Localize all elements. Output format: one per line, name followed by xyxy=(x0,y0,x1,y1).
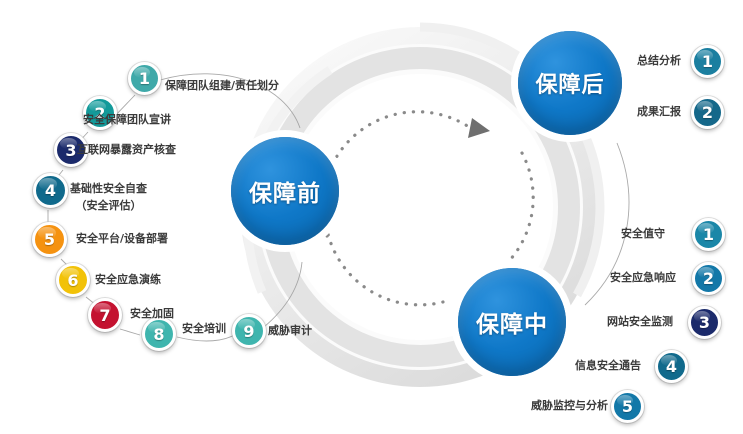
before-badge-6[interactable]: 6 xyxy=(56,263,90,297)
dotted-arc-top xyxy=(322,112,469,236)
before-label-4-line1: 基础性安全自查 xyxy=(70,180,147,197)
before-label-4-line2: （安全评估） xyxy=(70,197,147,214)
before-badge-1-num: 1 xyxy=(139,69,150,88)
dotted-arc-bottom xyxy=(325,215,443,305)
before-label-4: 基础性安全自查 （安全评估） xyxy=(70,180,147,214)
before-badge-9-num: 9 xyxy=(243,322,254,341)
during-badge-3[interactable]: 3 xyxy=(688,306,721,339)
hub-during[interactable]: 保障中 xyxy=(451,261,573,383)
dotted-arc-right xyxy=(489,153,533,278)
after-label-1: 总结分析 xyxy=(637,54,681,68)
during-label-3: 网站安全监测 xyxy=(607,315,673,329)
during-badge-3-num: 3 xyxy=(699,313,710,332)
before-badge-5[interactable]: 5 xyxy=(32,222,67,257)
before-badge-7-num: 7 xyxy=(99,306,110,325)
before-label-8: 安全培训 xyxy=(182,322,226,336)
before-badge-7[interactable]: 7 xyxy=(88,298,122,332)
hub-before[interactable]: 保障前 xyxy=(224,130,346,252)
hub-after-label: 保障后 xyxy=(535,67,604,99)
during-badge-1-num: 1 xyxy=(703,225,714,244)
before-label-9: 威胁审计 xyxy=(268,324,312,338)
during-label-2: 安全应急响应 xyxy=(610,271,676,285)
during-badge-5-num: 5 xyxy=(622,397,633,416)
during-badge-1[interactable]: 1 xyxy=(692,218,725,251)
arrowhead-to-after xyxy=(468,118,490,138)
during-badge-4-num: 4 xyxy=(666,357,677,376)
during-badge-5[interactable]: 5 xyxy=(611,390,644,423)
after-badge-1-num: 1 xyxy=(702,52,713,71)
before-label-2: 安全保障团队宣讲 xyxy=(83,113,171,127)
before-label-5: 安全平台/设备部署 xyxy=(76,232,168,246)
hub-before-label: 保障前 xyxy=(249,174,321,208)
diagram-canvas: 保障前 保障后 保障中 1 2 3 4 5 6 7 8 9 保障团队组建/责任划… xyxy=(0,0,743,434)
before-label-7: 安全加固 xyxy=(130,307,174,321)
hub-during-label: 保障中 xyxy=(476,305,548,339)
before-badge-3-num: 3 xyxy=(65,141,76,160)
during-label-1: 安全值守 xyxy=(621,227,665,241)
after-label-2: 成果汇报 xyxy=(637,105,681,119)
after-badge-2-num: 2 xyxy=(702,103,713,122)
before-badge-1[interactable]: 1 xyxy=(128,62,161,95)
before-badge-5-num: 5 xyxy=(44,230,55,249)
before-badge-9[interactable]: 9 xyxy=(232,314,266,348)
before-badge-8[interactable]: 8 xyxy=(142,317,176,351)
during-badge-2-num: 2 xyxy=(703,269,714,288)
before-label-3: 互联网暴露资产核查 xyxy=(77,143,176,157)
before-label-6: 安全应急演练 xyxy=(95,273,161,287)
after-badge-2[interactable]: 2 xyxy=(691,96,724,129)
before-badge-8-num: 8 xyxy=(153,325,164,344)
during-badge-2[interactable]: 2 xyxy=(692,262,725,295)
before-badge-4[interactable]: 4 xyxy=(33,173,68,208)
during-badge-4[interactable]: 4 xyxy=(655,350,688,383)
hub-after[interactable]: 保障后 xyxy=(511,24,629,142)
during-label-4: 信息安全通告 xyxy=(575,359,641,373)
after-badge-1[interactable]: 1 xyxy=(691,45,724,78)
during-label-5: 威胁监控与分析 xyxy=(531,399,608,413)
before-badge-6-num: 6 xyxy=(67,271,78,290)
before-label-1: 保障团队组建/责任划分 xyxy=(165,79,279,93)
before-badge-4-num: 4 xyxy=(45,181,56,200)
